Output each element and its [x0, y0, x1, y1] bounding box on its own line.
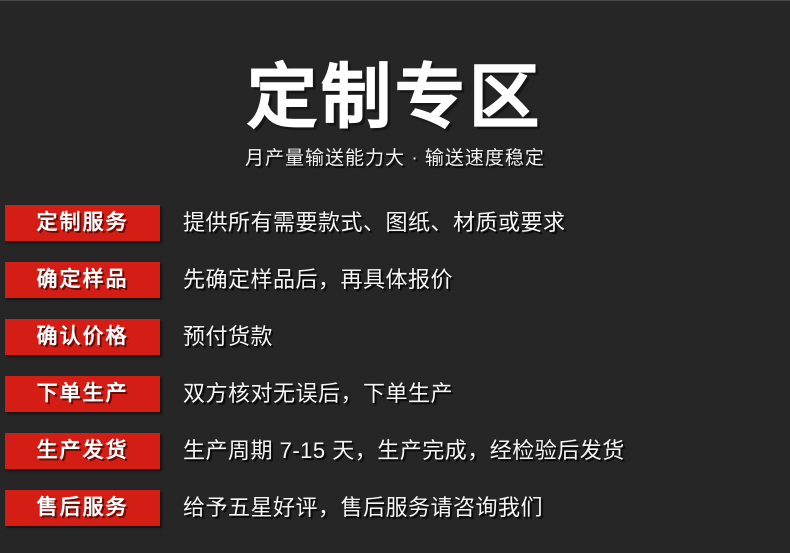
step-badge-label: 确定样品: [37, 269, 129, 290]
step-badge-place-order: 下单生产: [5, 376, 160, 412]
step-description: 提供所有需要款式、图纸、材质或要求: [183, 212, 566, 234]
step-badge-confirm-price: 确认价格: [5, 319, 160, 355]
step-badge-label: 生产发货: [37, 440, 129, 461]
banner-header: 定制专区 月产量输送能力大 · 输送速度稳定: [0, 1, 790, 171]
list-item: 定制服务 提供所有需要款式、图纸、材质或要求: [0, 194, 790, 251]
list-item: 售后服务 给予五星好评，售后服务请咨询我们: [0, 479, 790, 536]
step-badge-label: 下单生产: [37, 383, 129, 404]
step-description: 先确定样品后，再具体报价: [183, 269, 453, 291]
step-description: 预付货款: [183, 326, 273, 348]
step-badge-after-sales: 售后服务: [5, 490, 160, 526]
list-item: 确认价格 预付货款: [0, 308, 790, 365]
list-item: 下单生产 双方核对无误后，下单生产: [0, 365, 790, 422]
page-subtitle: 月产量输送能力大 · 输送速度稳定: [0, 147, 790, 171]
process-step-list: 定制服务 提供所有需要款式、图纸、材质或要求 确定样品 先确定样品后，再具体报价…: [0, 194, 790, 536]
step-badge-confirm-sample: 确定样品: [5, 262, 160, 298]
step-description: 生产周期 7-15 天，生产完成，经检验后发货: [183, 440, 625, 462]
page-title: 定制专区: [0, 59, 790, 135]
step-badge-label: 售后服务: [37, 497, 129, 518]
custom-service-banner: 定制专区 月产量输送能力大 · 输送速度稳定 定制服务 提供所有需要款式、图纸、…: [0, 0, 790, 553]
step-badge-label: 定制服务: [37, 212, 129, 233]
step-badge-label: 确认价格: [37, 326, 129, 347]
list-item: 生产发货 生产周期 7-15 天，生产完成，经检验后发货: [0, 422, 790, 479]
list-item: 确定样品 先确定样品后，再具体报价: [0, 251, 790, 308]
step-description: 给予五星好评，售后服务请咨询我们: [183, 497, 543, 519]
step-description: 双方核对无误后，下单生产: [183, 383, 453, 405]
step-badge-production-shipping: 生产发货: [5, 433, 160, 469]
step-badge-custom-service: 定制服务: [5, 205, 160, 241]
